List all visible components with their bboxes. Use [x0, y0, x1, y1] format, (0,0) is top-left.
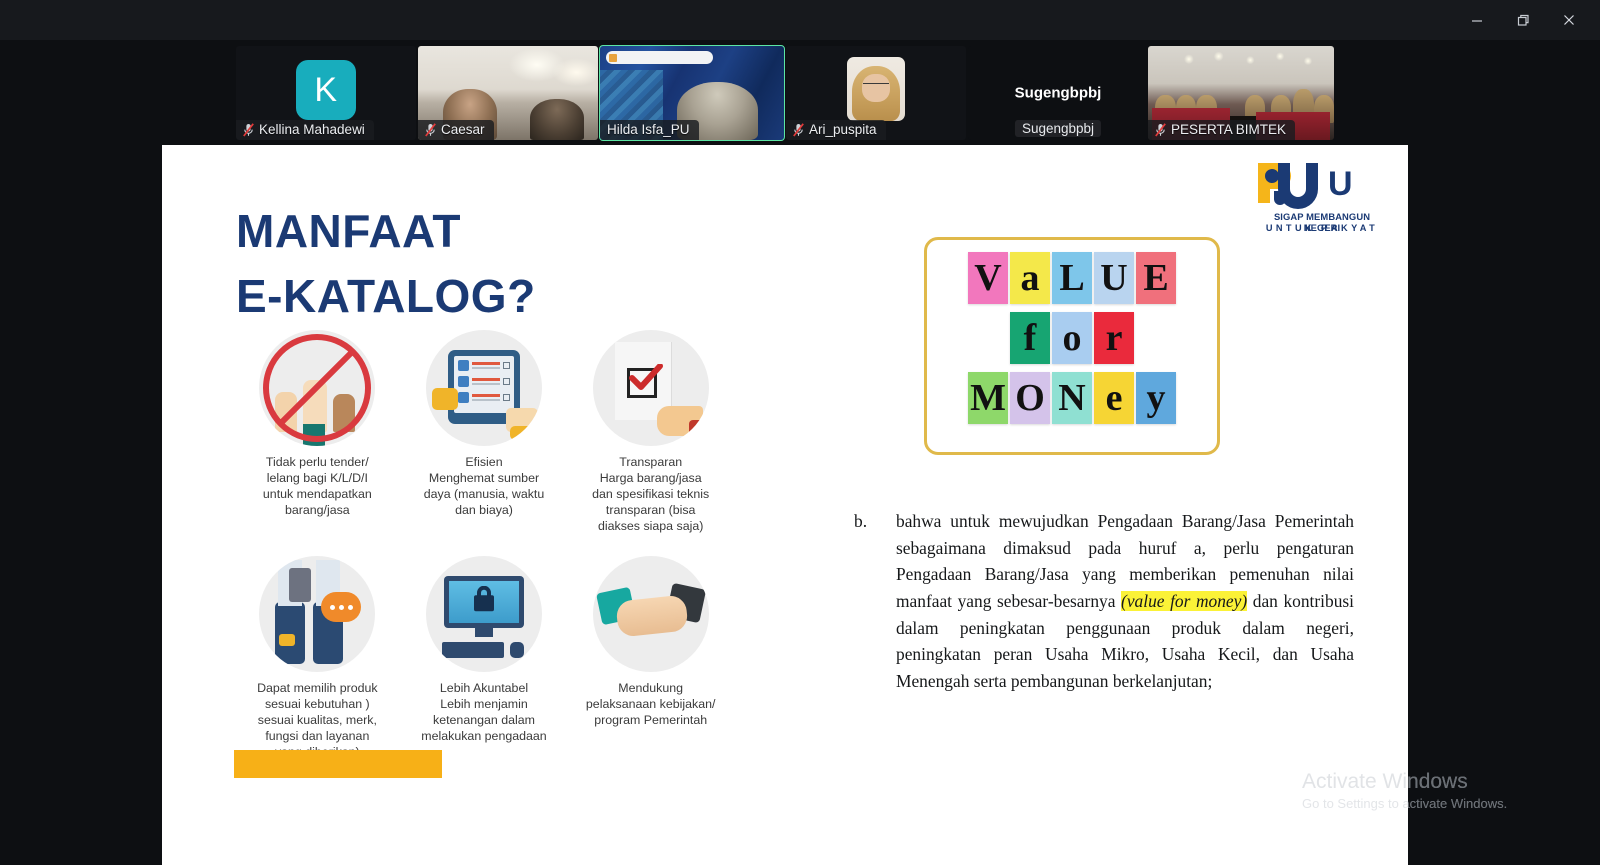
participant-name: Hilda Isfa_PU	[607, 122, 690, 137]
vfm-letter: M	[968, 372, 1008, 424]
benefit-caption: Mendukungpelaksanaan kebijakan/program P…	[571, 681, 731, 729]
benefit-item: Dapat memilih produksesuai kebutuhan )se…	[234, 556, 401, 760]
participant-namebar: Kellina Mahadewi	[236, 120, 374, 140]
benefit-item: EfisienMenghemat sumberdaya (manusia, wa…	[401, 330, 568, 534]
close-icon[interactable]	[1546, 0, 1592, 40]
benefit-caption: Tidak perlu tender/lelang bagi K/L/D/Iun…	[237, 455, 397, 519]
participant-display-name: Sugengbpbj	[1015, 85, 1102, 102]
vfm-letter: N	[1052, 372, 1092, 424]
legal-item-label: b.	[854, 508, 867, 535]
checkbox-form-icon	[593, 330, 709, 446]
participant-namebar: PESERTA BIMTEK	[1148, 120, 1295, 140]
benefits-grid: Tidak perlu tender/lelang bagi K/L/D/Iun…	[234, 330, 734, 761]
vfm-row-3: M O N e y	[927, 364, 1217, 424]
handshake-icon	[593, 556, 709, 672]
mute-icon	[425, 123, 436, 137]
activate-windows-watermark-overflow: Activate Windows Go to Settings to activ…	[1408, 762, 1600, 862]
app-window: K Kellina Mahadewi	[0, 0, 1600, 865]
benefit-item: Lebih AkuntabelLebih menjaminketenangan …	[401, 556, 568, 760]
participant-namebar: Ari_puspita	[786, 120, 886, 140]
legal-paragraph: b. bahwa untuk mewujudkan Pengadaan Bara…	[854, 508, 1354, 694]
benefit-caption: Lebih AkuntabelLebih menjaminketenangan …	[404, 681, 564, 745]
legal-body: bahwa untuk mewujudkan Pengadaan Barang/…	[896, 508, 1354, 694]
window-titlebar	[0, 0, 1600, 40]
vfm-letter: e	[1094, 372, 1134, 424]
vfm-letter: V	[968, 252, 1008, 304]
vfm-letter: O	[1010, 372, 1050, 424]
vfm-letter: f	[1010, 312, 1050, 364]
participant-strip: K Kellina Mahadewi	[0, 40, 1600, 145]
vfm-letter: a	[1010, 252, 1050, 304]
benefit-item: Mendukungpelaksanaan kebijakan/program P…	[567, 556, 734, 760]
benefits-row-2: Dapat memilih produksesuai kebutuhan )se…	[234, 556, 734, 760]
mute-icon	[1155, 123, 1166, 137]
participant-name: PESERTA BIMTEK	[1171, 122, 1286, 137]
vfm-letter: o	[1052, 312, 1092, 364]
phones-chat-icon	[259, 556, 375, 672]
participant-namebar: Caesar	[418, 120, 494, 140]
benefit-item: TransparanHarga barang/jasadan spesifika…	[567, 330, 734, 534]
participant-tile-caesar[interactable]: Caesar	[418, 46, 598, 140]
pu-logo-tagline-2: UNTUK RAKYAT	[1262, 223, 1382, 233]
title-line-2: E-KATALOG?	[236, 264, 536, 329]
svg-text:U: U	[1328, 165, 1353, 203]
participant-tile-peserta-bimtek[interactable]: PESERTA BIMTEK	[1148, 46, 1334, 140]
watermark-subtitle-overflow: Go to Settings to activate Windows.	[1408, 796, 1582, 811]
benefit-caption: Dapat memilih produksesuai kebutuhan )se…	[237, 681, 397, 760]
watermark-title-overflow: Activate Windows	[1408, 770, 1582, 794]
participant-tile-kellina[interactable]: K Kellina Mahadewi	[236, 46, 416, 140]
minimize-icon[interactable]	[1454, 0, 1500, 40]
tablet-list-icon	[426, 330, 542, 446]
participant-name: Ari_puspita	[809, 122, 877, 137]
benefits-row-1: Tidak perlu tender/lelang bagi K/L/D/Iun…	[234, 330, 734, 534]
restore-icon[interactable]	[1500, 0, 1546, 40]
vfm-letter: U	[1094, 252, 1134, 304]
participant-name: Sugengbpbj	[1015, 120, 1101, 137]
avatar: K	[296, 60, 356, 120]
vfm-letter: y	[1136, 372, 1176, 424]
participant-namebar: Hilda Isfa_PU	[600, 120, 699, 140]
participant-name: Caesar	[441, 122, 485, 137]
vfm-letter: L	[1052, 252, 1092, 304]
monitor-lock-icon	[426, 556, 542, 672]
pu-logo-mark: U	[1252, 161, 1382, 211]
benefit-caption: TransparanHarga barang/jasadan spesifika…	[571, 455, 731, 534]
value-for-money-image: V a L U E f o r M O N e y	[924, 237, 1220, 455]
page-title: MANFAAT E-KATALOG?	[236, 199, 536, 330]
vfm-letter: E	[1136, 252, 1176, 304]
vfm-letter: r	[1094, 312, 1134, 364]
participant-tile-ari[interactable]: Ari_puspita	[786, 46, 966, 140]
check-mark-icon	[629, 364, 663, 390]
vfm-row-2: f o r	[927, 304, 1217, 364]
participant-name: Kellina Mahadewi	[259, 122, 365, 137]
participant-tile-hilda[interactable]: Hilda Isfa_PU	[600, 46, 784, 140]
legal-highlight: (value for money)	[1121, 591, 1247, 611]
mute-icon	[243, 123, 254, 137]
pu-logo: U SIGAP MEMBANGUN NEGERI UNTUK RAKYAT	[1252, 161, 1382, 239]
vfm-row-1: V a L U E	[927, 240, 1217, 304]
shared-slide[interactable]: MANFAAT E-KATALOG? U SIGAP MEMBANGUN NEG…	[162, 145, 1408, 865]
no-hands-icon	[259, 330, 375, 446]
mute-icon	[793, 123, 804, 137]
benefit-item: Tidak perlu tender/lelang bagi K/L/D/Iun…	[234, 330, 401, 534]
participant-tile-sugengbpbj[interactable]: Sugengbpbj Sugengbpbj	[968, 46, 1148, 140]
title-line-1: MANFAAT	[236, 199, 536, 264]
accent-bar	[234, 750, 442, 778]
benefit-caption: EfisienMenghemat sumberdaya (manusia, wa…	[404, 455, 564, 519]
avatar	[847, 57, 905, 121]
